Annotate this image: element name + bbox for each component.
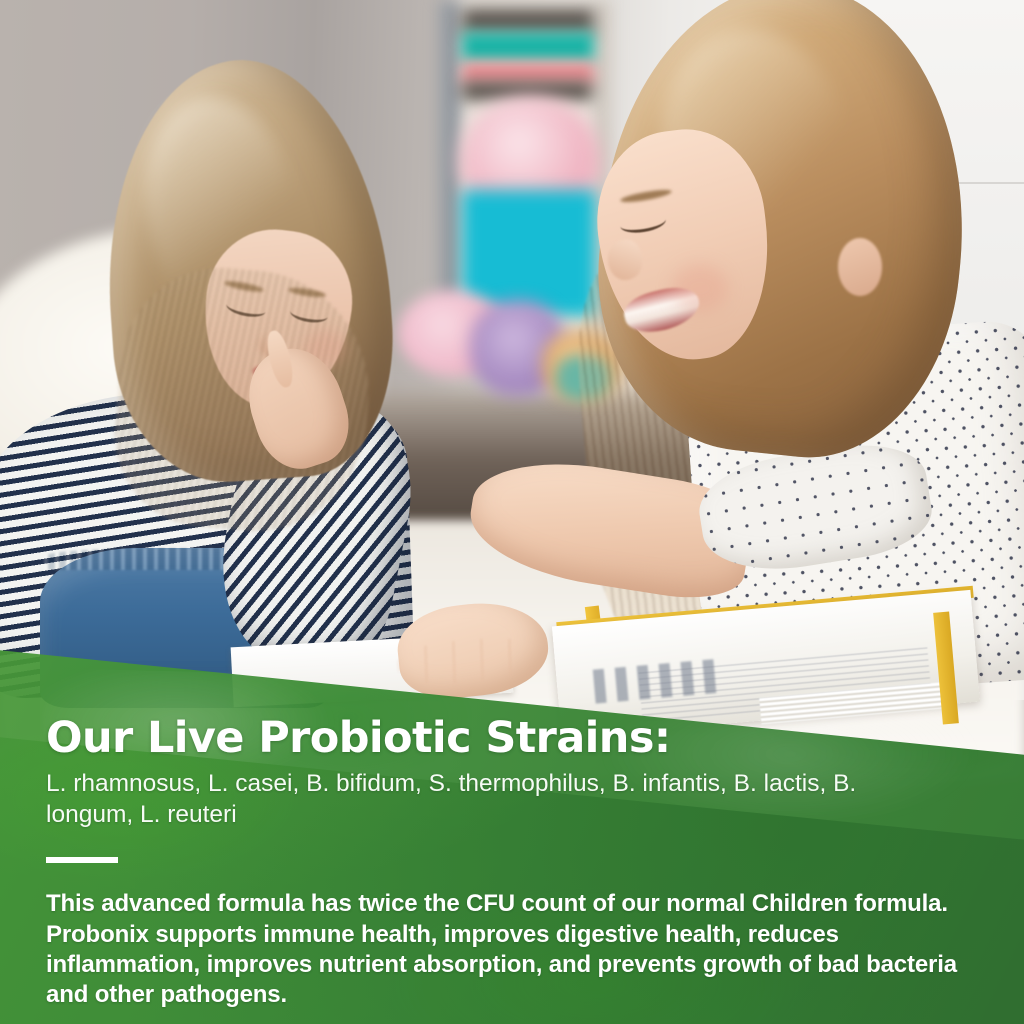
panel-headline: Our Live Probiotic Strains: bbox=[46, 716, 998, 762]
panel-content: Our Live Probiotic Strains: L. rhamnosus… bbox=[46, 716, 998, 1010]
bookshelf-band-pink bbox=[462, 62, 594, 84]
section-divider bbox=[46, 857, 118, 863]
girl-right-cheek bbox=[672, 264, 728, 312]
bookshelf-band-teal bbox=[462, 32, 594, 62]
girl-right-ear bbox=[838, 238, 882, 296]
promo-canvas: Our Live Probiotic Strains: L. rhamnosus… bbox=[0, 0, 1024, 1024]
probiotic-strains-list: L. rhamnosus, L. casei, B. bifidum, S. t… bbox=[46, 768, 936, 832]
bookshelf-post-left bbox=[440, 0, 460, 330]
bookshelf-shelf-dark bbox=[462, 8, 594, 34]
panel-body-copy: This advanced formula has twice the CFU … bbox=[46, 889, 994, 1010]
